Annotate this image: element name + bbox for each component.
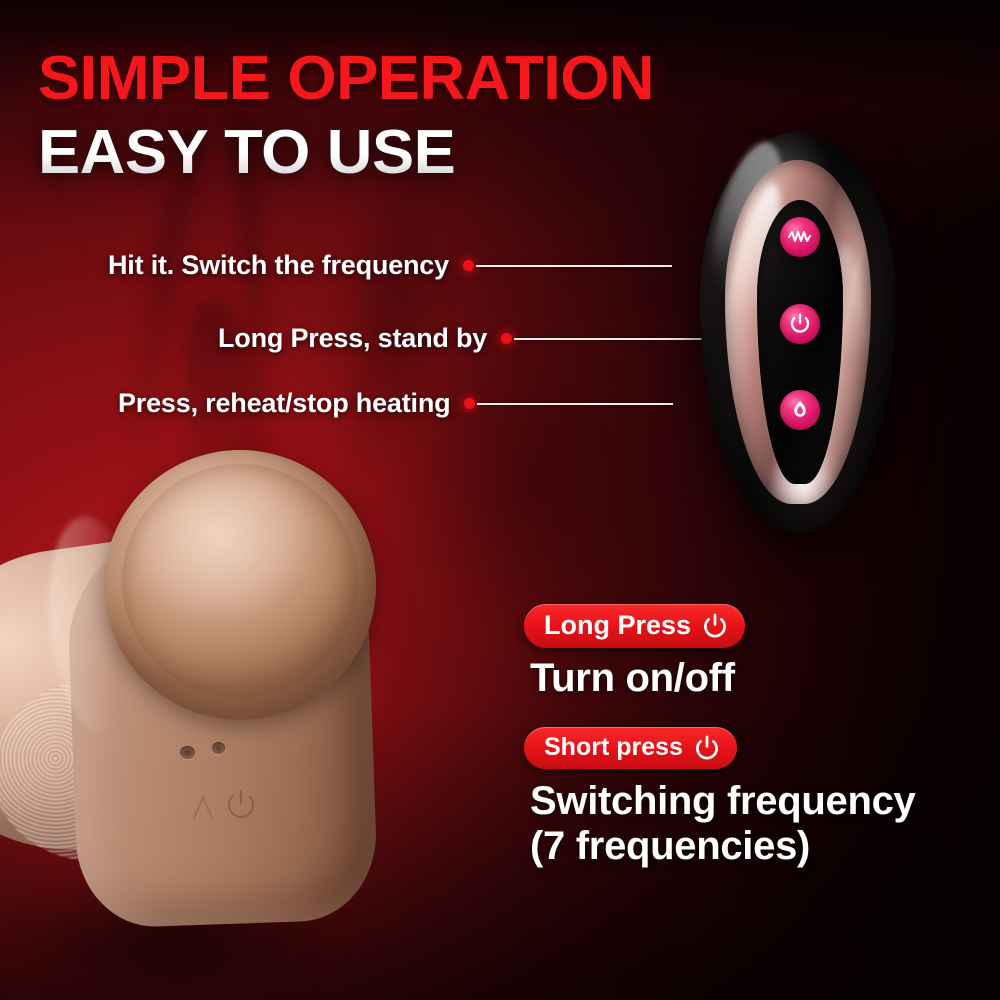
remote-wave-button[interactable] (780, 217, 820, 257)
callout-dot-icon (501, 333, 512, 344)
instruction-block: Long Press Turn on/off Short press Switc… (524, 604, 984, 869)
flame-icon (789, 399, 811, 421)
product-head-highlight (122, 464, 358, 698)
charge-port-icon (180, 746, 195, 759)
callout-leader-line (476, 265, 672, 267)
callout-leader-line (477, 403, 673, 405)
product-power-icon (224, 788, 258, 822)
remote-control (700, 132, 896, 532)
headline-secondary: EASY TO USE (38, 122, 455, 184)
short-press-badge: Short press (524, 727, 737, 769)
product-infographic: SIMPLE OPERATION EASY TO USE Hit it. Swi… (0, 0, 1000, 1000)
callout-row-heat: Press, reheat/stop heating (118, 388, 673, 419)
short-press-description-line2: (7 frequencies) (530, 824, 984, 869)
vibration-wave-icon (788, 230, 812, 244)
callout-label: Press, reheat/stop heating (118, 388, 450, 419)
instruction-spacer (524, 701, 984, 727)
product-brand-mark-icon (190, 792, 216, 822)
callout-dot-icon (463, 260, 474, 271)
callout-leader-line (514, 338, 710, 340)
long-press-badge: Long Press (524, 604, 745, 648)
callout-label: Hit it. Switch the frequency (108, 250, 449, 281)
product-device (0, 440, 424, 1000)
power-icon (693, 734, 721, 762)
charge-port-icon (212, 742, 225, 754)
long-press-description: Turn on/off (530, 656, 984, 701)
short-press-badge-label: Short press (544, 733, 683, 762)
callout-row-power: Long Press, stand by (218, 323, 710, 354)
remote-heat-button[interactable] (780, 390, 820, 430)
callout-label: Long Press, stand by (218, 323, 487, 354)
long-press-badge-label: Long Press (544, 610, 691, 641)
power-icon (701, 612, 729, 640)
headline-primary: SIMPLE OPERATION (38, 48, 654, 110)
power-icon (789, 313, 811, 335)
product-head (104, 450, 376, 720)
remote-power-button[interactable] (780, 304, 820, 344)
callout-dot-icon (464, 398, 475, 409)
callout-row-wave: Hit it. Switch the frequency (108, 250, 672, 281)
short-press-description-line1: Switching frequency (530, 779, 984, 824)
